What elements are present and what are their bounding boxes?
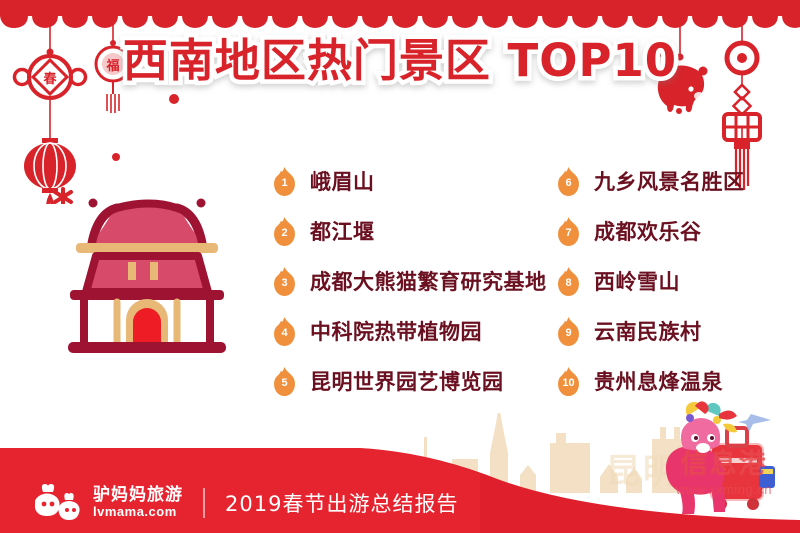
rank-number: 1 [272, 167, 297, 196]
list-item[interactable]: 9 云南民族村 [556, 306, 800, 356]
flame-rank-icon: 5 [272, 367, 297, 396]
rank-number: 10 [556, 367, 581, 396]
flame-rank-icon: 8 [556, 267, 581, 296]
scalloped-border-decoration [0, 13, 800, 29]
flame-rank-icon: 4 [272, 317, 297, 346]
attraction-name: 中科院热带植物园 [310, 316, 482, 346]
lvmama-logo[interactable]: 驴妈妈旅游 lvmama.com [35, 484, 183, 522]
list-item[interactable]: 3 成都大熊猫繁育研究基地 [272, 256, 542, 306]
title-container: 西南地区热门景区 TOP10 [0, 36, 800, 86]
list-item[interactable]: 10 贵州息烽温泉 [556, 356, 800, 406]
brand-name-en: lvmama.com [93, 505, 183, 519]
footer-divider [203, 488, 205, 518]
list-item[interactable]: 2 都江堰 [272, 206, 542, 256]
flame-rank-icon: 6 [556, 167, 581, 196]
rank-number: 9 [556, 317, 581, 346]
footer-brand-group: 驴妈妈旅游 lvmama.com 2019春节出游总结报告 [35, 484, 458, 522]
attraction-name: 云南民族村 [594, 316, 702, 346]
list-item[interactable]: 8 西岭雪山 [556, 256, 800, 306]
rank-number: 3 [272, 267, 297, 296]
lvmama-mascot-illustration [643, 400, 778, 515]
list-item[interactable]: 5 昆明世界园艺博览园 [272, 356, 542, 406]
flame-rank-icon: 7 [556, 217, 581, 246]
attraction-name: 九乡风景名胜区 [594, 166, 745, 196]
attraction-name: 贵州息烽温泉 [594, 366, 723, 396]
attraction-name: 成都欢乐谷 [594, 216, 702, 246]
list-item[interactable]: 1 峨眉山 [272, 156, 542, 206]
attraction-name: 峨眉山 [310, 166, 375, 196]
infographic-canvas: 春 福 [0, 0, 800, 533]
rank-number: 6 [556, 167, 581, 196]
ranking-list-right: 6 九乡风景名胜区 7 成都欢乐谷 8 西岭雪山 9 云南民族村 [556, 156, 800, 406]
donkey-logo-icon [35, 484, 87, 522]
list-item[interactable]: 6 九乡风景名胜区 [556, 156, 800, 206]
rank-number: 5 [272, 367, 297, 396]
rank-number: 2 [272, 217, 297, 246]
dot-decoration [169, 94, 179, 104]
attraction-name: 西岭雪山 [594, 266, 680, 296]
rank-number: 7 [556, 217, 581, 246]
flame-rank-icon: 1 [272, 167, 297, 196]
rank-number: 8 [556, 267, 581, 296]
flame-rank-icon: 3 [272, 267, 297, 296]
brand-name-cn: 驴妈妈旅游 [93, 487, 183, 505]
report-title: 2019春节出游总结报告 [225, 488, 458, 518]
attraction-name: 成都大熊猫繁育研究基地 [310, 266, 547, 296]
attraction-name: 昆明世界园艺博览园 [310, 366, 504, 396]
flame-rank-icon: 2 [272, 217, 297, 246]
flame-rank-icon: 10 [556, 367, 581, 396]
dot-decoration [112, 153, 120, 161]
attraction-name: 都江堰 [310, 216, 375, 246]
rank-number: 4 [272, 317, 297, 346]
top-red-bar [0, 0, 800, 14]
dot-decoration [676, 108, 682, 114]
page-title: 西南地区热门景区 TOP10 [123, 36, 677, 86]
list-item[interactable]: 7 成都欢乐谷 [556, 206, 800, 256]
flame-rank-icon: 9 [556, 317, 581, 346]
list-item[interactable]: 4 中科院热带植物园 [272, 306, 542, 356]
ranking-list-left: 1 峨眉山 2 都江堰 3 成都大熊猫繁育研究基地 4 中科院热带植物园 [272, 156, 542, 406]
chinese-temple-illustration [62, 186, 232, 361]
